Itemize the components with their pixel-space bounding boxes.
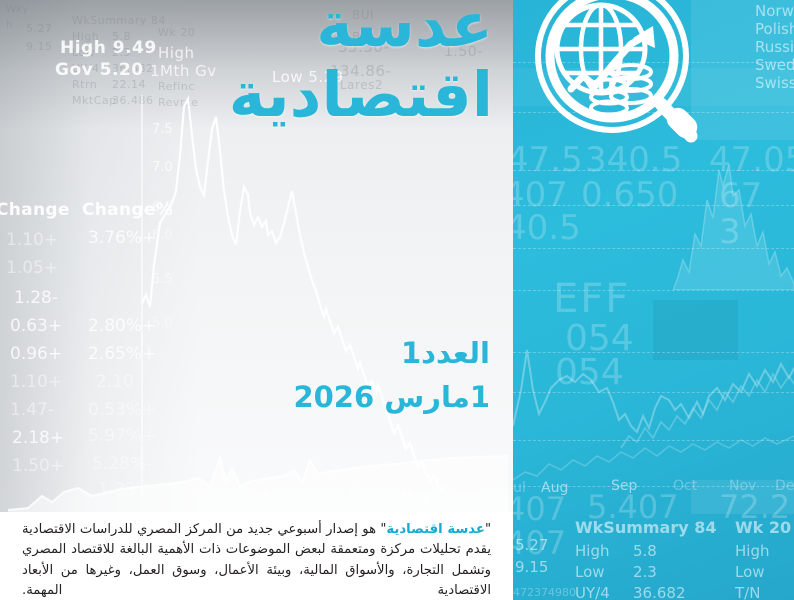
issue-date: 1مارس 2026: [0, 376, 490, 420]
issue-number: العدد1: [0, 332, 490, 376]
country-label: Swiss: [755, 74, 794, 92]
eff-label: EFF: [553, 276, 630, 322]
country-label: Norway: [755, 2, 794, 20]
right-col-row: High: [735, 542, 769, 560]
country-label: Polish: [755, 20, 794, 38]
change-column-header: Change: [0, 200, 70, 220]
title-line-1: عدسة: [0, 0, 493, 56]
background-number: 40.5: [513, 208, 581, 248]
background-line-chart: [120, 95, 450, 495]
right-col-title: 20 Wk: [735, 518, 791, 537]
country-label: Sweden: [755, 56, 794, 74]
change-value: +2.18: [12, 428, 64, 448]
summary-title: 84 WkSummary: [575, 518, 717, 537]
description-paragraph: "عدسة اقتصادية" هو إصدار أسبوعي جديد من …: [0, 516, 513, 600]
summary-row-value: 2.3: [633, 563, 657, 581]
summary-row-value: 5.8: [633, 542, 657, 560]
background-number: 5.27: [515, 536, 548, 554]
issue-info: العدد1 1مارس 2026: [0, 332, 502, 419]
brand-name: عدسة اقتصادية: [386, 522, 485, 537]
background-secondary-chart: [8, 452, 508, 518]
right-col-row: Low: [735, 563, 765, 581]
change-value: +1.05: [6, 258, 58, 278]
background-number: 472374980: [513, 586, 576, 599]
summary-row-label: Low: [575, 563, 605, 581]
summary-row-label: High: [575, 542, 609, 560]
magnifying-glass-globe-chart-coins-logo: [519, 0, 711, 159]
summary-row-value: 36.682: [633, 584, 686, 600]
sparkline-chart: [513, 430, 794, 490]
background-number: 407: [513, 490, 566, 528]
sparkline-chart: [673, 160, 794, 290]
quote-open: ": [485, 522, 491, 537]
summary-row-label: 4/UY: [575, 584, 610, 600]
publication-cover: Wky h 5.27 9.15 84 WkSummary High Low 4/…: [0, 0, 794, 600]
background-number: 9.15: [515, 558, 548, 576]
title-line-2: اقتصادية: [0, 64, 493, 126]
right-col-row: T/N: [735, 584, 760, 600]
background-number: 0.650: [581, 175, 678, 215]
change-value: -1.28: [14, 288, 58, 308]
country-label: Russia: [755, 38, 794, 56]
change-value: +1.10: [6, 230, 58, 250]
publication-title: عدسة اقتصادية: [0, 0, 505, 126]
